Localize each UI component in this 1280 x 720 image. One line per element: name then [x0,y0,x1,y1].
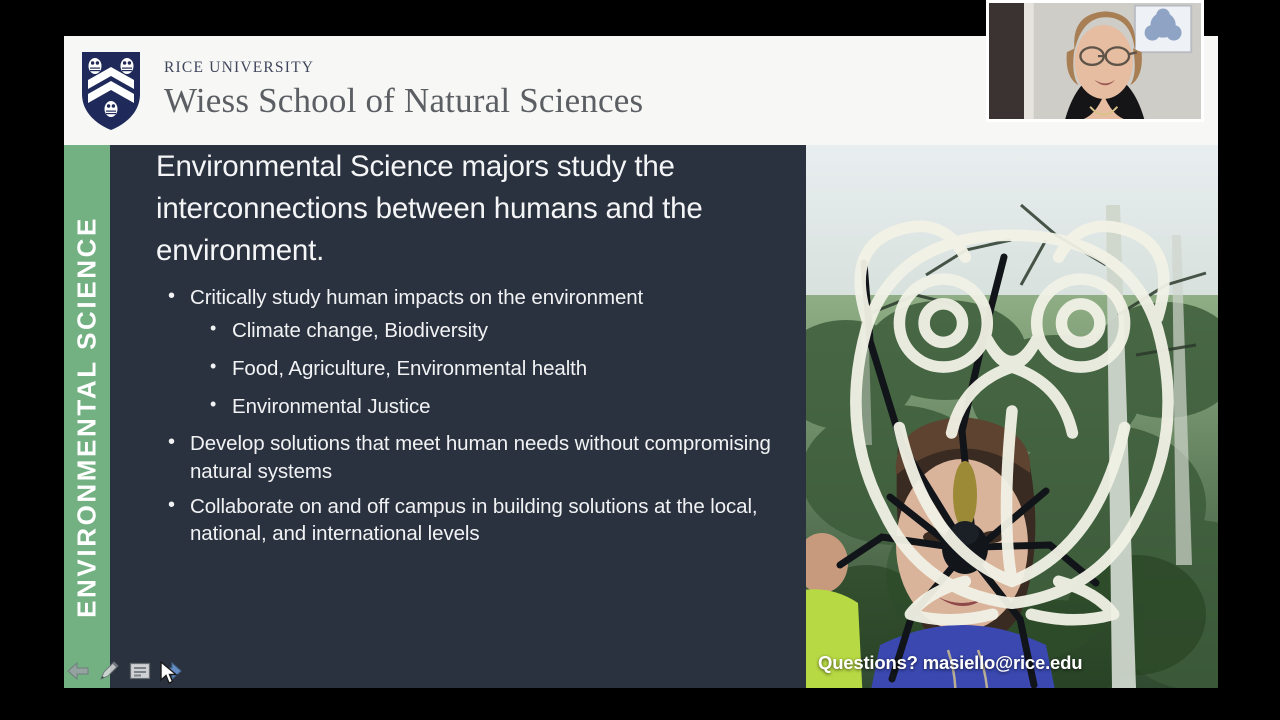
list-item: Collaborate on and off campus in buildin… [156,493,816,548]
section-tab-label: ENVIRONMENTAL SCIENCE [72,216,103,618]
bullet-text: Develop solutions that meet human needs … [190,432,771,483]
photo-caption: Questions? masiello@rice.edu [818,652,1082,674]
slide-headline: Environmental Science majors study the i… [156,146,816,272]
list-item: Environmental Justice [190,393,816,421]
presentation-screen: RICE UNIVERSITY Wiess School of Natural … [0,0,1280,720]
owl-outline-icon [806,145,1218,688]
pen-annotation-icon[interactable] [97,659,121,683]
slide-canvas: RICE UNIVERSITY Wiess School of Natural … [64,36,1218,688]
list-item: Develop solutions that meet human needs … [156,430,816,485]
sub-bullet-list: Climate change, Biodiversity Food, Agric… [190,317,816,420]
mouse-pointer-icon [160,661,178,685]
list-item: Climate change, Biodiversity [190,317,816,345]
bullet-list: Critically study human impacts on the en… [156,284,816,548]
rainforest-photo: Questions? masiello@rice.edu [806,145,1218,688]
brand-text: RICE UNIVERSITY Wiess School of Natural … [164,60,643,121]
slide-menu-icon[interactable] [128,659,152,683]
slide-body: Environmental Science majors study the i… [156,146,816,555]
list-item: Critically study human impacts on the en… [156,284,816,421]
webcam-video-icon [989,3,1201,119]
list-item: Food, Agriculture, Environmental health [190,355,816,383]
section-tab-environmental-science: ENVIRONMENTAL SCIENCE [64,145,110,688]
bullet-text: Collaborate on and off campus in buildin… [190,495,758,546]
school-name: Wiess School of Natural Sciences [164,80,643,121]
university-name: RICE UNIVERSITY [164,60,643,76]
rice-owl-shield-icon [80,50,142,132]
previous-slide-arrow-icon[interactable] [66,659,90,683]
bullet-text: Critically study human impacts on the en… [190,286,643,309]
presenter-webcam-overlay[interactable] [986,0,1204,122]
